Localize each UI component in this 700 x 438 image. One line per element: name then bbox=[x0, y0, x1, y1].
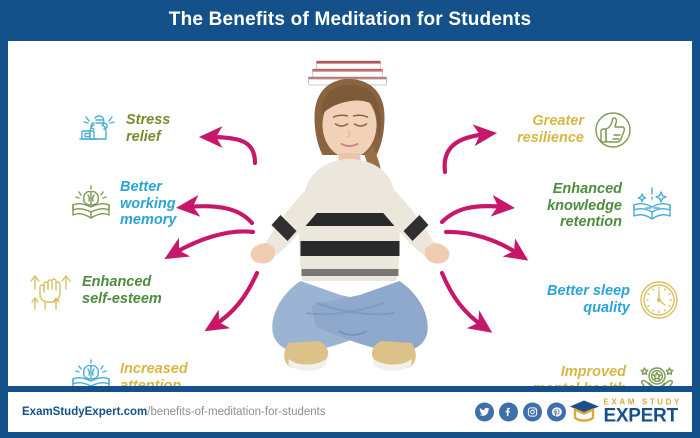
url-brand: ExamStudyExpert.com bbox=[22, 406, 147, 418]
brand-logo[interactable]: EXAM STUDY EXPERT bbox=[567, 396, 682, 429]
benefit-stress-relief: Stress relief bbox=[78, 109, 258, 149]
infographic-canvas: Stress relief Better working memory bbox=[8, 41, 692, 386]
site-url: ExamStudyExpert.com/benefits-of-meditati… bbox=[22, 406, 326, 418]
benefit-label: Enhanced self-esteem bbox=[82, 274, 162, 307]
brain-book-icon bbox=[70, 183, 112, 225]
benefit-label: Better sleep quality bbox=[547, 283, 630, 316]
page-title: The Benefits of Meditation for Students bbox=[169, 9, 531, 31]
benefit-label: Improved mental health bbox=[533, 364, 626, 386]
benefit-better-working-memory: Better working memory bbox=[70, 179, 260, 229]
instagram-icon[interactable] bbox=[523, 403, 542, 422]
benefit-label: Greater resilience bbox=[517, 113, 584, 146]
benefit-improved-mental-health: Improved mental health bbox=[465, 359, 680, 386]
clock-icon bbox=[638, 279, 680, 321]
header-bar: The Benefits of Meditation for Students bbox=[0, 0, 700, 40]
url-path: /benefits-of-meditation-for-students bbox=[147, 406, 325, 418]
social-links[interactable] bbox=[475, 403, 566, 422]
pinterest-icon[interactable] bbox=[547, 403, 566, 422]
raised-fist-arrows-icon bbox=[28, 269, 74, 313]
twitter-icon[interactable] bbox=[475, 403, 494, 422]
benefit-enhanced-knowledge-retention: Enhanced knowledge retention bbox=[464, 181, 674, 231]
arrow-to-self-esteem bbox=[173, 231, 253, 254]
open-book-sparkles-icon bbox=[630, 184, 674, 228]
facebook-icon[interactable] bbox=[499, 403, 518, 422]
benefit-greater-resilience: Greater resilience bbox=[434, 109, 634, 151]
hands-star-medal-icon bbox=[634, 359, 680, 386]
center-photo bbox=[243, 55, 458, 386]
graduation-cap-icon bbox=[567, 396, 601, 429]
benefit-better-sleep-quality: Better sleep quality bbox=[465, 279, 680, 321]
benefit-increased-attention: Increased attention bbox=[70, 357, 270, 386]
brain-book-icon bbox=[70, 357, 112, 386]
benefit-label: Enhanced knowledge retention bbox=[547, 181, 622, 231]
infographic-frame: The Benefits of Meditation for Students bbox=[0, 0, 700, 438]
benefit-label: Increased attention bbox=[120, 361, 188, 386]
thumbs-up-circle-icon bbox=[592, 109, 634, 151]
benefit-label: Stress relief bbox=[126, 112, 170, 145]
benefit-enhanced-self-esteem: Enhanced self-esteem bbox=[28, 269, 228, 313]
stressed-person-laptop-icon bbox=[78, 109, 118, 149]
footer-bar: ExamStudyExpert.com/benefits-of-meditati… bbox=[8, 392, 692, 432]
benefit-label: Better working memory bbox=[120, 179, 176, 229]
logo-bottom-text: EXPERT bbox=[604, 407, 682, 426]
